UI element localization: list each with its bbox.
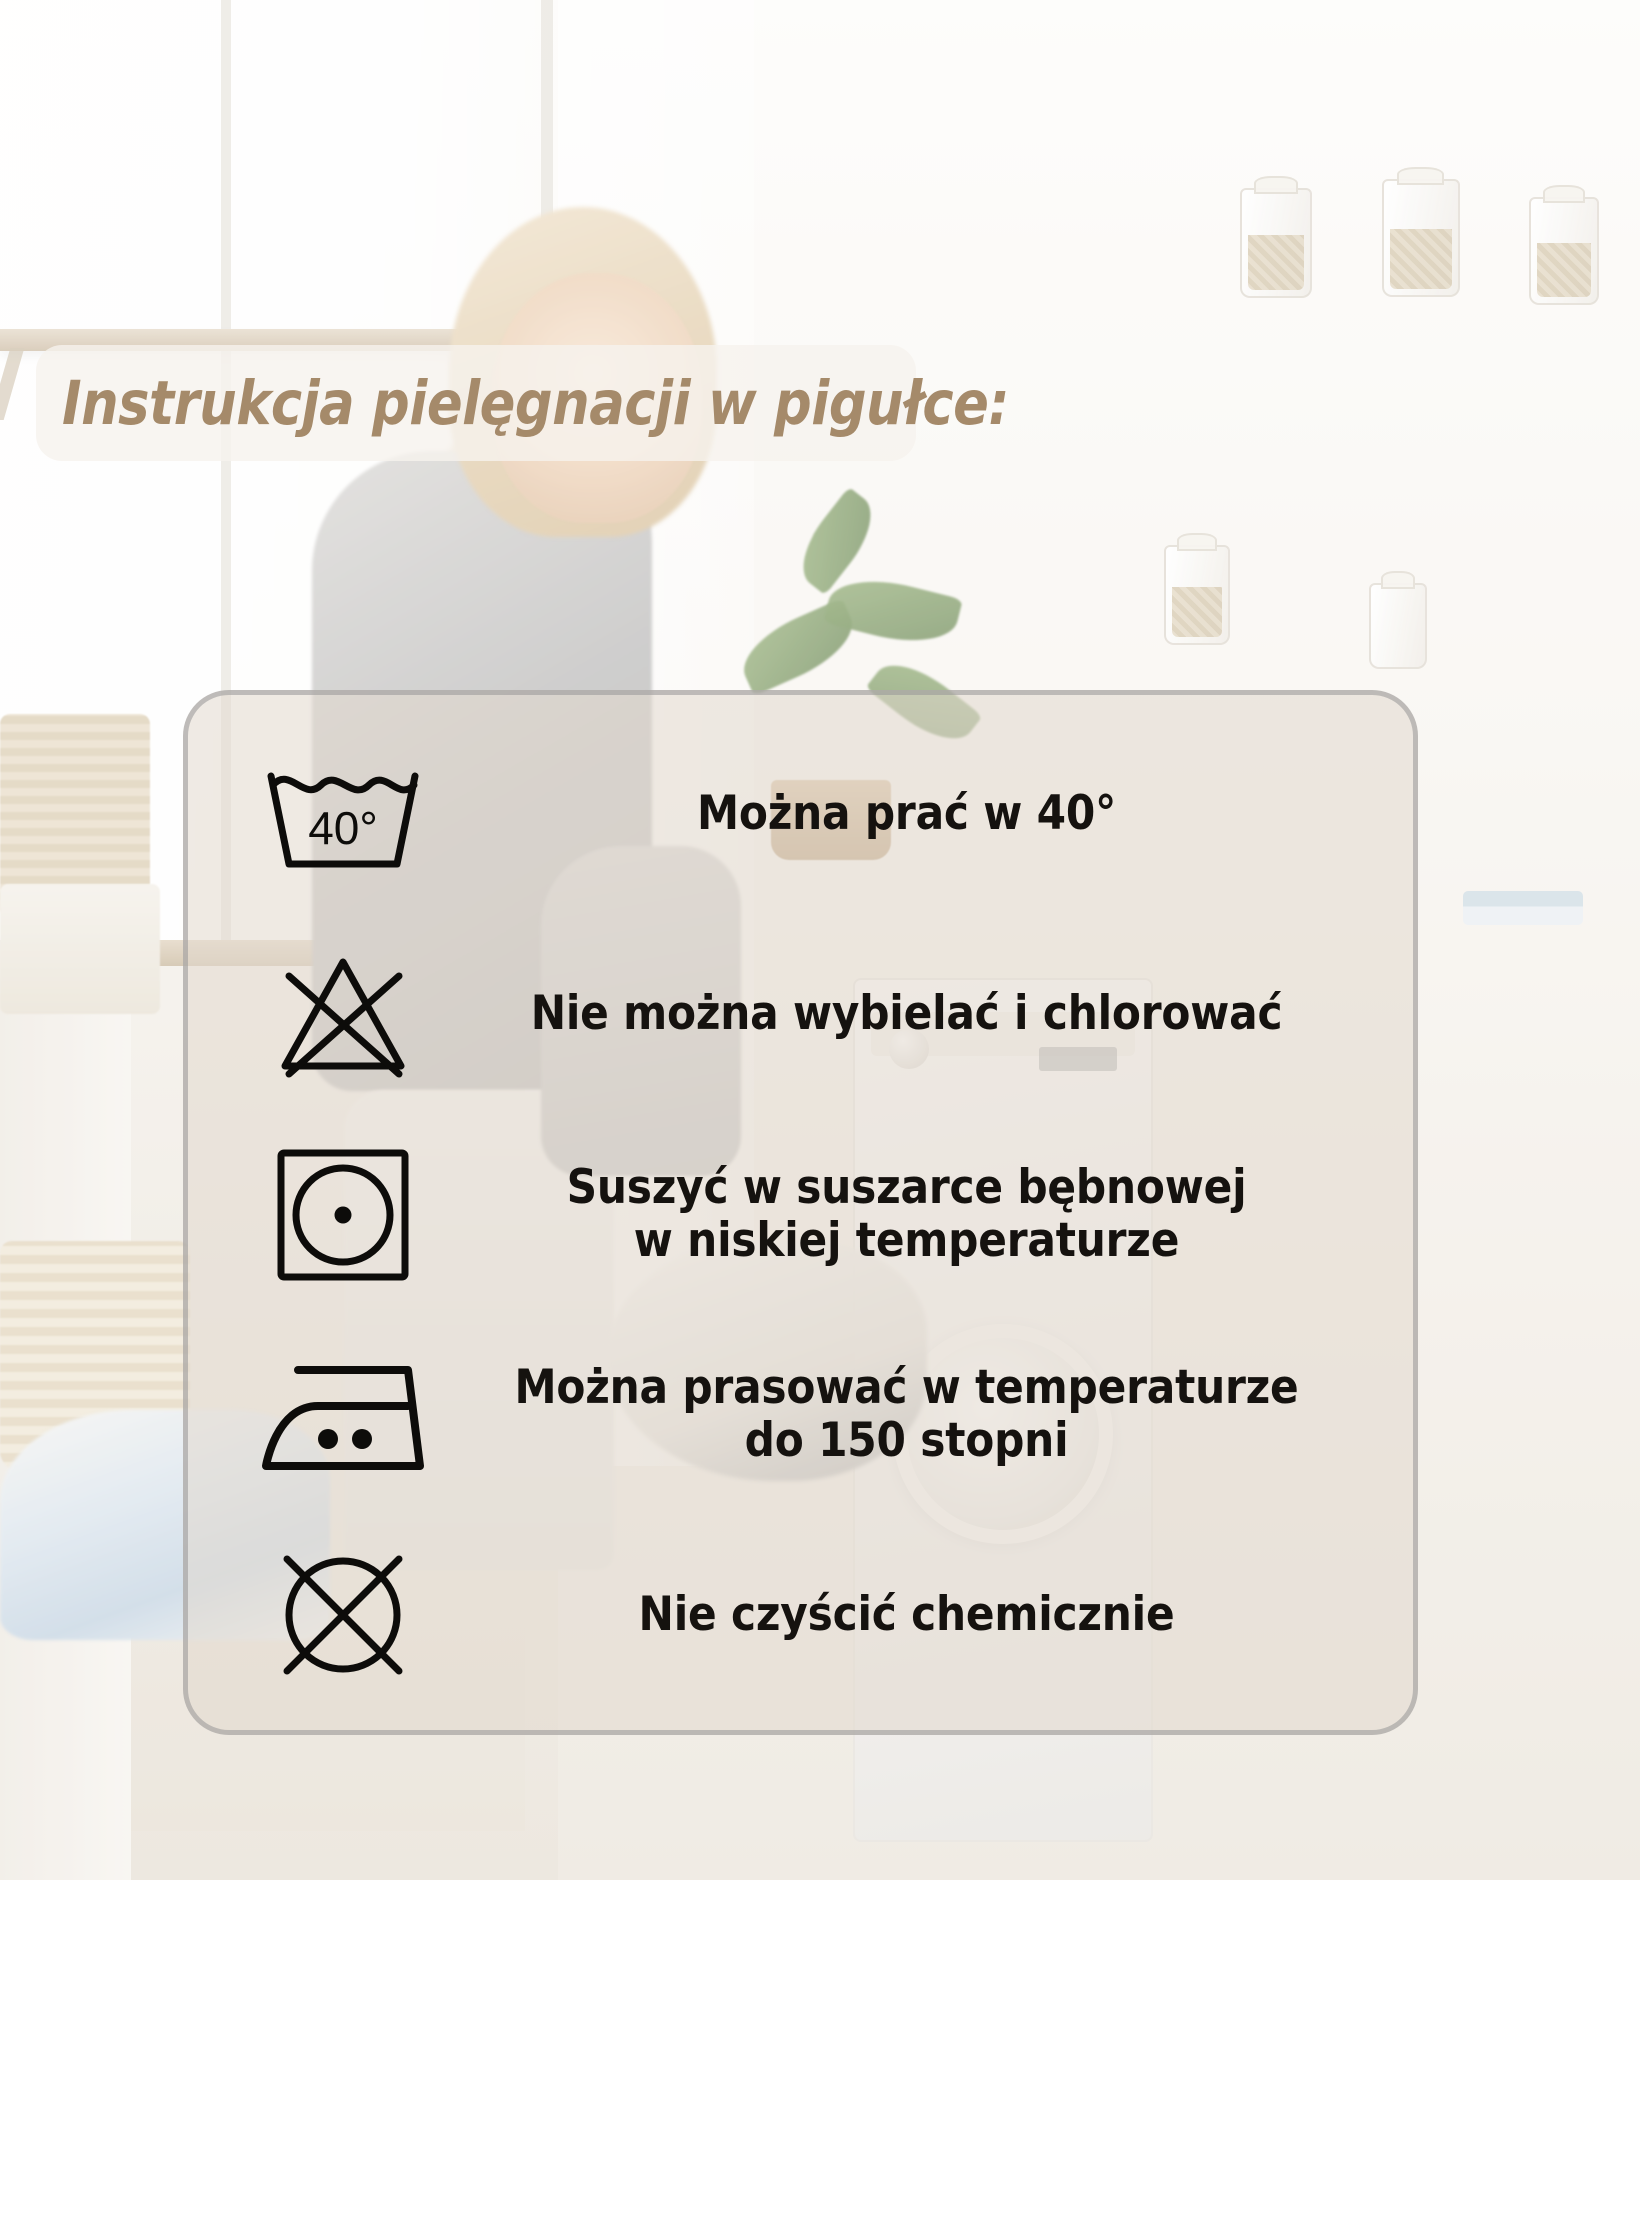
- care-label-line1: Nie można wybielać i chlorować: [531, 986, 1283, 1041]
- care-label: Można prać w 40°: [458, 788, 1373, 841]
- care-label: Nie można wybielać i chlorować: [458, 988, 1373, 1041]
- care-instructions-infographic: Instrukcja pielęgnacji w pigułce: 40° Mo…: [0, 0, 1640, 1880]
- do-not-bleach-icon: [228, 948, 458, 1080]
- do-not-dry-clean-icon: [228, 1545, 458, 1685]
- care-label: Suszyć w suszarce bębnowej w niskiej tem…: [458, 1162, 1373, 1267]
- care-label-line1: Można prać w 40°: [697, 786, 1116, 841]
- care-label-line1: Suszyć w suszarce bębnowej: [567, 1160, 1247, 1215]
- care-label: Nie czyścić chemicznie: [458, 1589, 1373, 1642]
- iron-two-dots-icon: [228, 1354, 458, 1476]
- wash-temp-label: 40°: [308, 802, 378, 854]
- wash-tub-40-icon: 40°: [228, 754, 458, 874]
- care-row: Nie czyścić chemicznie: [228, 1530, 1373, 1700]
- care-symbols-card: 40° Można prać w 40° Nie można wybielać …: [183, 690, 1418, 1735]
- title-banner: Instrukcja pielęgnacji w pigułce:: [36, 345, 916, 461]
- care-row: Można prasować w temperaturze do 150 sto…: [228, 1330, 1373, 1500]
- tumble-dry-low-icon: [228, 1147, 458, 1283]
- care-row: Nie można wybielać i chlorować: [228, 929, 1373, 1099]
- page-title: Instrukcja pielęgnacji w pigułce:: [62, 368, 1009, 439]
- care-label-line2: do 150 stopni: [458, 1415, 1355, 1468]
- care-row: Suszyć w suszarce bębnowej w niskiej tem…: [228, 1130, 1373, 1300]
- care-label-line2: w niskiej temperaturze: [458, 1215, 1355, 1268]
- care-label-line1: Nie czyścić chemicznie: [639, 1587, 1175, 1642]
- care-label: Można prasować w temperaturze do 150 sto…: [458, 1362, 1373, 1467]
- care-row: 40° Można prać w 40°: [228, 729, 1373, 899]
- care-label-line1: Można prasować w temperaturze: [514, 1360, 1298, 1415]
